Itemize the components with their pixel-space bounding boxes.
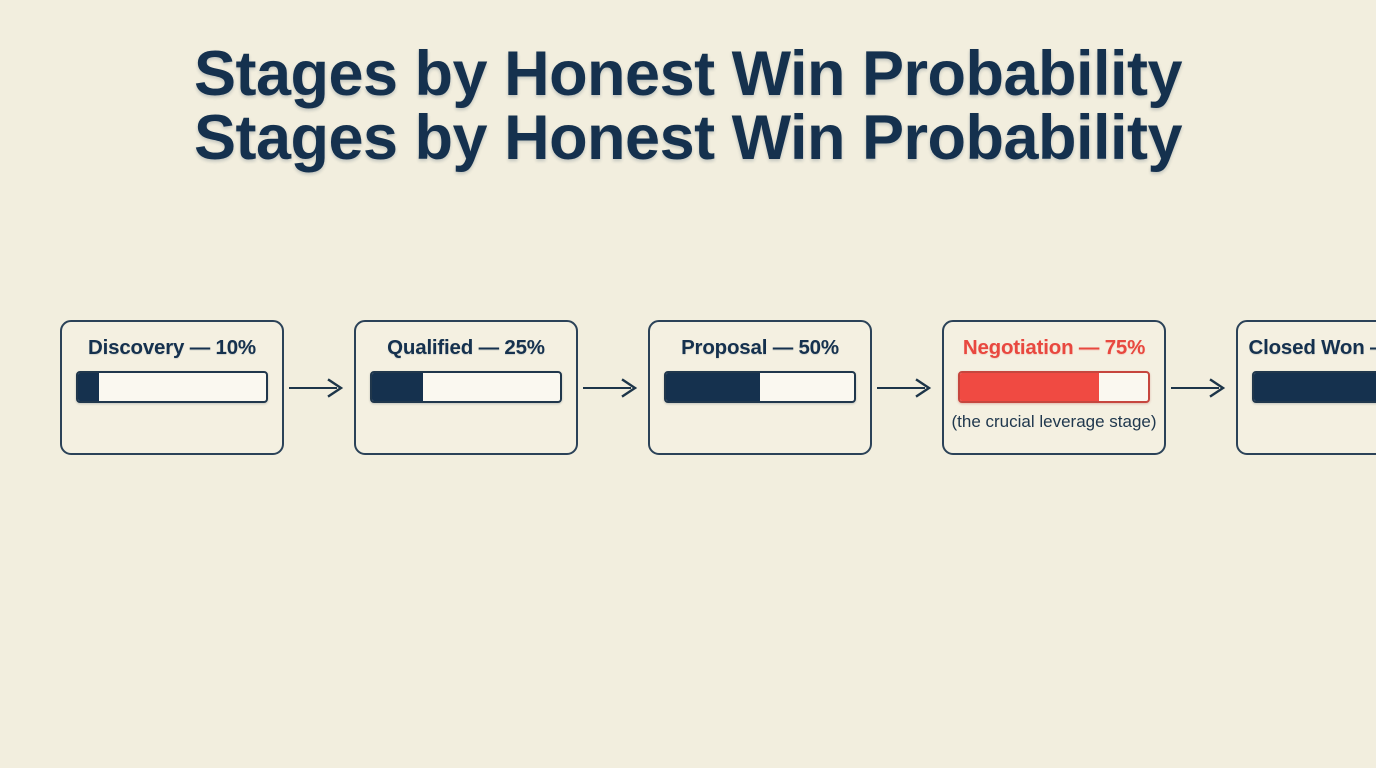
page-title: Stages by Honest Win Probability Stages … <box>0 42 1376 171</box>
stage-card-qualified[interactable]: Qualified — 25% <box>354 320 578 455</box>
probability-bar-fill <box>1254 373 1376 401</box>
arrow-right-icon <box>284 320 354 455</box>
stage-card-proposal[interactable]: Proposal — 50% <box>648 320 872 455</box>
stage-label: Qualified — 25% <box>387 336 545 360</box>
stage-label: Discovery — 10% <box>88 336 256 360</box>
stage-label: Closed Won — 100% <box>1249 336 1376 360</box>
probability-bar-track <box>76 371 268 403</box>
stage-label: Negotiation — 75% <box>963 336 1145 360</box>
arrow-right-icon <box>578 320 648 455</box>
stage-note: (the crucial leverage stage) <box>951 412 1156 432</box>
probability-bar-track <box>370 371 562 403</box>
probability-bar-track <box>664 371 856 403</box>
probability-bar-track <box>958 371 1150 403</box>
arrow-right-icon <box>1166 320 1236 455</box>
probability-bar-track <box>1252 371 1376 403</box>
stage-card-negotiation[interactable]: Negotiation — 75%(the crucial leverage s… <box>942 320 1166 455</box>
page-title-line-2: Stages by Honest Win Probability <box>0 106 1376 170</box>
arrow-right-icon <box>872 320 942 455</box>
stage-card-closed-won[interactable]: Closed Won — 100% <box>1236 320 1376 455</box>
page-title-line-1: Stages by Honest Win Probability <box>0 42 1376 106</box>
probability-bar-fill <box>372 373 423 401</box>
probability-bar-fill <box>666 373 760 401</box>
probability-bar-fill <box>960 373 1099 401</box>
stage-flow: Discovery — 10%Qualified — 25%Proposal —… <box>60 320 1316 455</box>
probability-bar-fill <box>78 373 99 401</box>
stage-card-discovery[interactable]: Discovery — 10% <box>60 320 284 455</box>
stage-label: Proposal — 50% <box>681 336 839 360</box>
